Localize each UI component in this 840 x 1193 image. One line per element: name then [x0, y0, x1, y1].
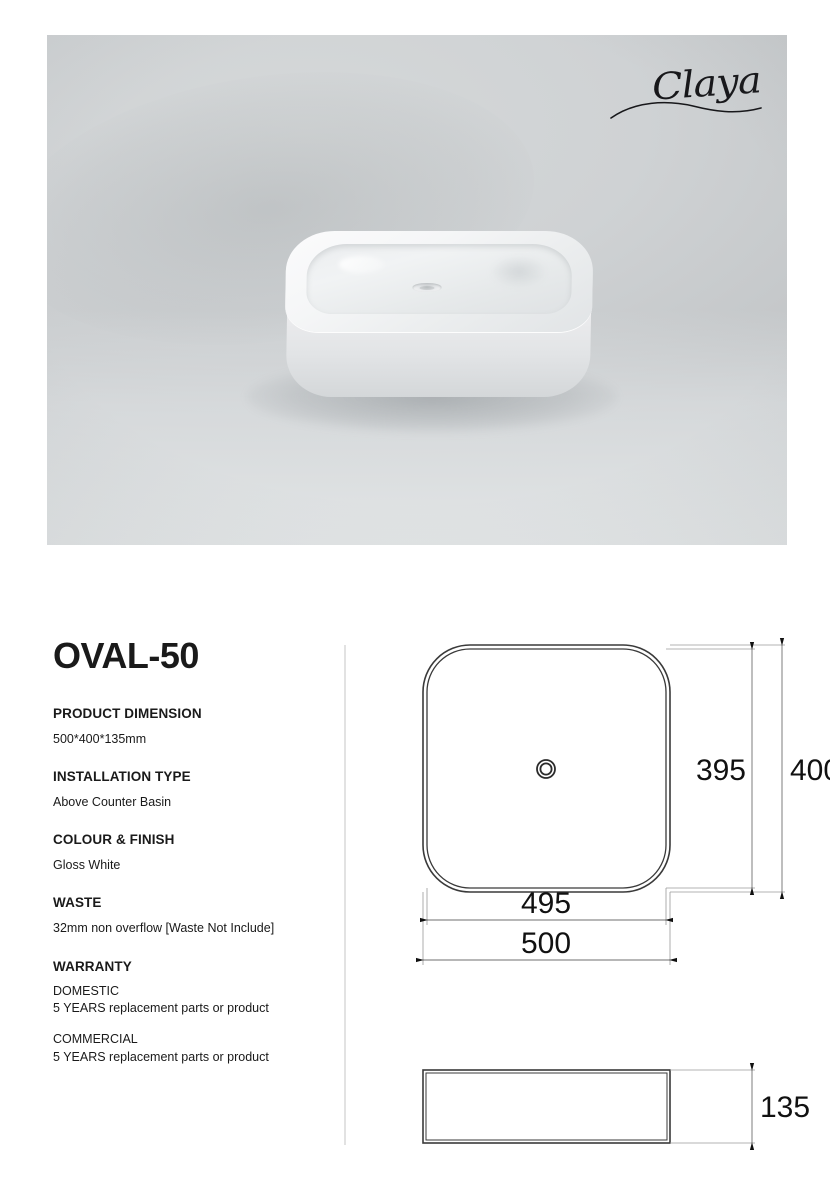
spec-heading: WARRANTY [53, 959, 328, 974]
spec-block-colour: COLOUR & FINISH Gloss White [53, 832, 328, 874]
photo-vignette [47, 35, 787, 545]
page-title: OVAL-50 [53, 638, 328, 674]
side-view-extension-lines [670, 1070, 755, 1143]
dim-label-height-outer: 400 [790, 754, 830, 787]
side-view-outline [423, 1070, 670, 1143]
dim-label-width-outer: 500 [521, 927, 571, 960]
spec-block-installation: INSTALLATION TYPE Above Counter Basin [53, 769, 328, 811]
spec-heading: WASTE [53, 895, 328, 910]
dim-label-height-inner: 395 [696, 754, 746, 787]
technical-drawings: 395 400 495 500 135 [400, 620, 830, 1180]
top-view-outline [423, 645, 670, 892]
product-photo: Claya [47, 35, 787, 545]
spec-heading: PRODUCT DIMENSION [53, 706, 328, 721]
dim-label-width-inner: 495 [521, 887, 571, 920]
spec-block-warranty: WARRANTY DOMESTIC 5 YEARS replacement pa… [53, 959, 328, 1067]
spec-heading: INSTALLATION TYPE [53, 769, 328, 784]
dim-label-side-height: 135 [760, 1091, 810, 1124]
column-divider [344, 645, 346, 1145]
spec-value: 32mm non overflow [Waste Not Include] [53, 919, 328, 937]
warranty-label: DOMESTIC [53, 983, 328, 1001]
spec-block-waste: WASTE 32mm non overflow [Waste Not Inclu… [53, 895, 328, 937]
warranty-domestic: DOMESTIC 5 YEARS replacement parts or pr… [53, 983, 328, 1019]
spec-block-dimension: PRODUCT DIMENSION 500*400*135mm [53, 706, 328, 748]
specification-column: OVAL-50 PRODUCT DIMENSION 500*400*135mm … [53, 638, 328, 1088]
spec-heading: COLOUR & FINISH [53, 832, 328, 847]
warranty-commercial: COMMERCIAL 5 YEARS replacement parts or … [53, 1031, 328, 1067]
spec-value: Gloss White [53, 856, 328, 874]
warranty-term: 5 YEARS replacement parts or product [53, 1000, 328, 1018]
warranty-term: 5 YEARS replacement parts or product [53, 1049, 328, 1067]
spec-value: Above Counter Basin [53, 793, 328, 811]
technical-drawing-svg: 395 400 495 500 135 [400, 620, 830, 1180]
warranty-label: COMMERCIAL [53, 1031, 328, 1049]
spec-value: 500*400*135mm [53, 730, 328, 748]
